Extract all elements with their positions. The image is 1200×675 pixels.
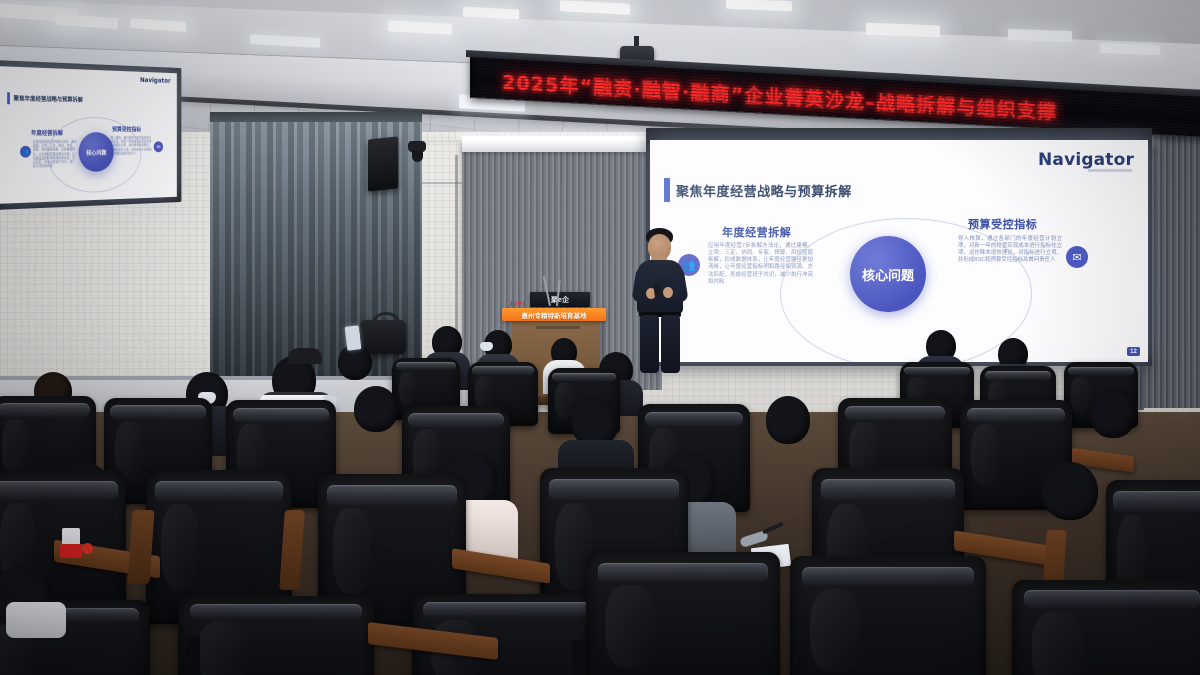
audience-head (1042, 462, 1098, 520)
side-screen-right-body: 导入核算，通过各部门的年度经营计划立项，对新一年的经营实现成本进行指标化立项，运… (110, 136, 152, 156)
right-column-body: 导入核算，通过各部门的年度经营计划立项，对新一年的经营实现成本进行指标化立项，运… (958, 236, 1062, 265)
podium-nameplate: 聚e企 (530, 292, 590, 307)
conference-hall-scene: 2025年“融资·融智·融商”企业菁英沙龙–战略拆解与组织支撑 Navigato… (0, 0, 1200, 675)
logo-underline (1088, 169, 1132, 172)
ceiling-light (1100, 43, 1160, 55)
left-column-heading: 年度经营拆解 (722, 224, 791, 240)
podium-banner: 惠州专精特新培育基地 (502, 308, 606, 321)
core-question-node: 核心问题 (850, 236, 926, 312)
presenter-leg-left (640, 315, 659, 373)
camera-lens-icon (412, 150, 423, 162)
ceiling-light (866, 23, 940, 38)
presenter-hand-right (663, 287, 673, 298)
seat[interactable] (790, 556, 986, 675)
hair-clip-icon (288, 348, 322, 364)
wall-speaker (368, 136, 398, 191)
side-screen-right-heading: 预算受控指标 (112, 125, 141, 133)
mail-icon: ✉ (1066, 246, 1088, 268)
audience-head (354, 386, 398, 432)
red-object (82, 543, 93, 554)
people-icon: 👥 (20, 146, 31, 158)
seat-leg (186, 636, 200, 675)
side-screen-logo: Navigator (140, 76, 171, 84)
seat[interactable] (586, 552, 780, 675)
face-mask (480, 342, 493, 351)
presenter-leg-right (661, 315, 680, 373)
side-screen: Navigator 聚焦年度经营战略与预算拆解 年度经营拆解 预算受控指标 应用… (0, 66, 177, 204)
ceiling-light (1008, 29, 1072, 42)
main-screen: Navigator 聚焦年度经营战略与预算拆解 年度经营拆解 应用年度经营7步拆… (650, 140, 1148, 362)
slide-page-number: 12 (1127, 347, 1140, 356)
presenter (620, 228, 700, 374)
right-column-heading: 预算受控指标 (968, 216, 1037, 232)
seat[interactable] (1012, 580, 1200, 675)
left-column-body: 应用年度经营7步拆解方法论，通过建模、立项、三定、协同、专家、预算、风控层层拆解… (708, 243, 813, 286)
audience-head (766, 396, 810, 444)
side-screen-left-body: 应用年度经营7步拆解方法论，通过建模、立项、三定、协同、专家、预算、风控层层拆解… (33, 140, 77, 169)
side-screen-title: 聚焦年度经营战略与预算拆解 (14, 93, 83, 103)
seat[interactable] (178, 596, 374, 675)
main-screen-title-bar (664, 178, 670, 202)
red-package (60, 544, 82, 558)
audience-head (1090, 388, 1136, 438)
seat-leg (572, 640, 586, 675)
side-screen-left-heading: 年度经营拆解 (31, 128, 63, 137)
main-screen-title: 聚焦年度经营战略与预算拆解 (676, 181, 852, 200)
smartphone-raised (345, 325, 362, 351)
podium-seam (536, 326, 580, 329)
side-screen-frame: Navigator 聚焦年度经营战略与预算拆解 年度经营拆解 预算受控指标 应用… (0, 60, 181, 210)
mail-icon: ✉ (154, 141, 163, 152)
side-screen-title-bar (7, 92, 10, 104)
audience-shoulder (6, 602, 66, 638)
main-screen-logo: Navigator (1038, 150, 1134, 170)
